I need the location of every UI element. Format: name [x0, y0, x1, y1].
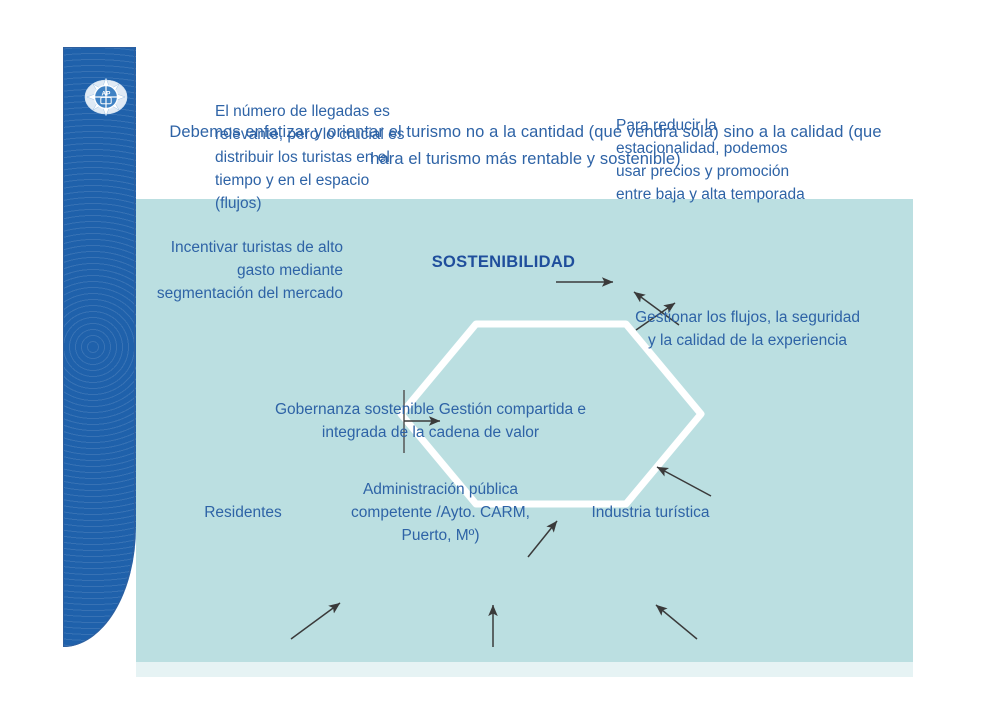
- hexagon-center-label: SOSTENIBILIDAD: [386, 253, 621, 272]
- compass-emblem-logo: AP: [84, 75, 128, 119]
- callout-administracion: Administración pública competente /Ayto.…: [328, 479, 553, 548]
- arrow-industria: [656, 605, 697, 639]
- slide-canvas: AP Debemos enfatizar y orientar el turis…: [63, 47, 913, 677]
- callout-residentes: Residentes: [163, 502, 323, 525]
- callout-gobernanza: Gobernanza sostenible Gestión compartida…: [263, 399, 598, 445]
- sidebar-blue-band: [63, 47, 136, 647]
- callout-estacionalidad: Para reducir la estacionalidad, podemos …: [616, 115, 821, 207]
- callout-industria: Industria turística: [543, 502, 758, 525]
- logo-monogram: AP: [102, 91, 112, 98]
- sidebar-decoration: AP: [63, 47, 136, 677]
- callout-gestionar: Gestionar los flujos, la seguridad y la …: [635, 307, 860, 353]
- callout-incentivar: Incentivar turistas de alto gasto median…: [153, 237, 343, 306]
- arrow-residentes: [291, 603, 340, 639]
- callout-llegadas: El número de llegadas es relevante, pero…: [215, 101, 415, 216]
- arrow-gestionar-to-center: [657, 467, 711, 496]
- diagram-panel-footer-strip: [136, 662, 913, 677]
